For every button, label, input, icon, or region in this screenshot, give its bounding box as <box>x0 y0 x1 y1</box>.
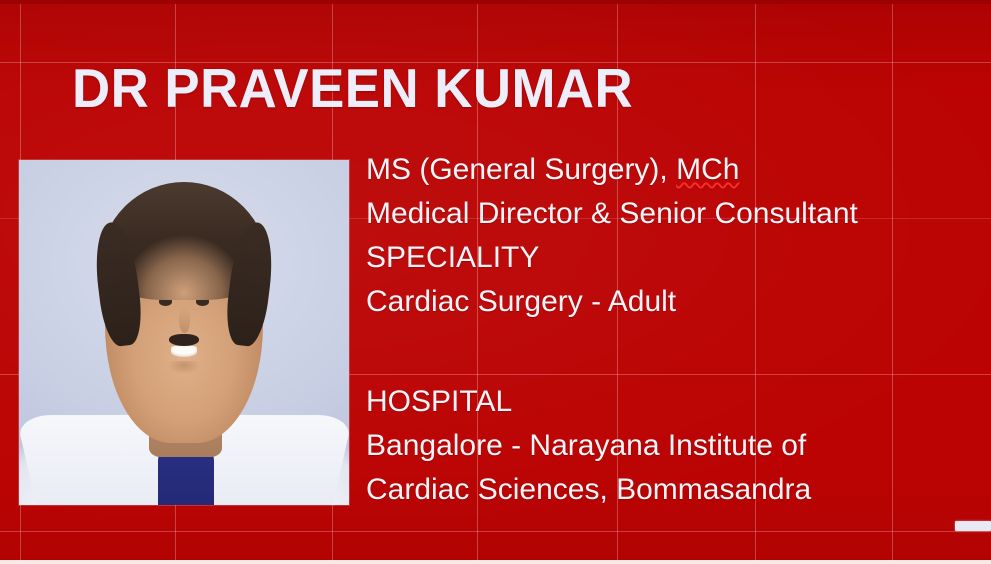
credentials-block: MS (General Surgery), MCh Medical Direct… <box>366 148 858 324</box>
grid-vertical-line <box>892 0 893 564</box>
doctor-profile-slide: DR PRAVEEN KUMAR MS (General Surgery), M… <box>0 0 991 564</box>
hospital-block: HOSPITAL Bangalore - Narayana Institute … <box>366 380 811 512</box>
doctor-name-title: DR PRAVEEN KUMAR <box>72 55 633 121</box>
chin-shadow <box>165 361 203 381</box>
doctor-photo <box>19 160 349 505</box>
qualification-line: MS (General Surgery), MCh <box>366 148 858 192</box>
mustache <box>169 334 199 346</box>
grid-horizontal-line <box>0 531 991 532</box>
top-edge-strip <box>0 0 991 4</box>
hospital-label: HOSPITAL <box>366 380 811 424</box>
mouth <box>171 346 198 357</box>
hospital-line-1: Bangalore - Narayana Institute of <box>366 424 811 468</box>
designation-line: Medical Director & Senior Consultant <box>366 192 858 236</box>
speciality-value: Cardiac Surgery - Adult <box>366 280 858 324</box>
hospital-line-2: Cardiac Sciences, Bommasandra <box>366 468 811 512</box>
bottom-edge-strip <box>0 560 991 564</box>
qualification-text: MS (General Surgery), <box>366 153 676 186</box>
speciality-label: SPECIALITY <box>366 236 858 280</box>
qualification-flagged-word: MCh <box>676 153 739 186</box>
nose <box>179 308 189 334</box>
selection-handle[interactable] <box>955 521 991 531</box>
